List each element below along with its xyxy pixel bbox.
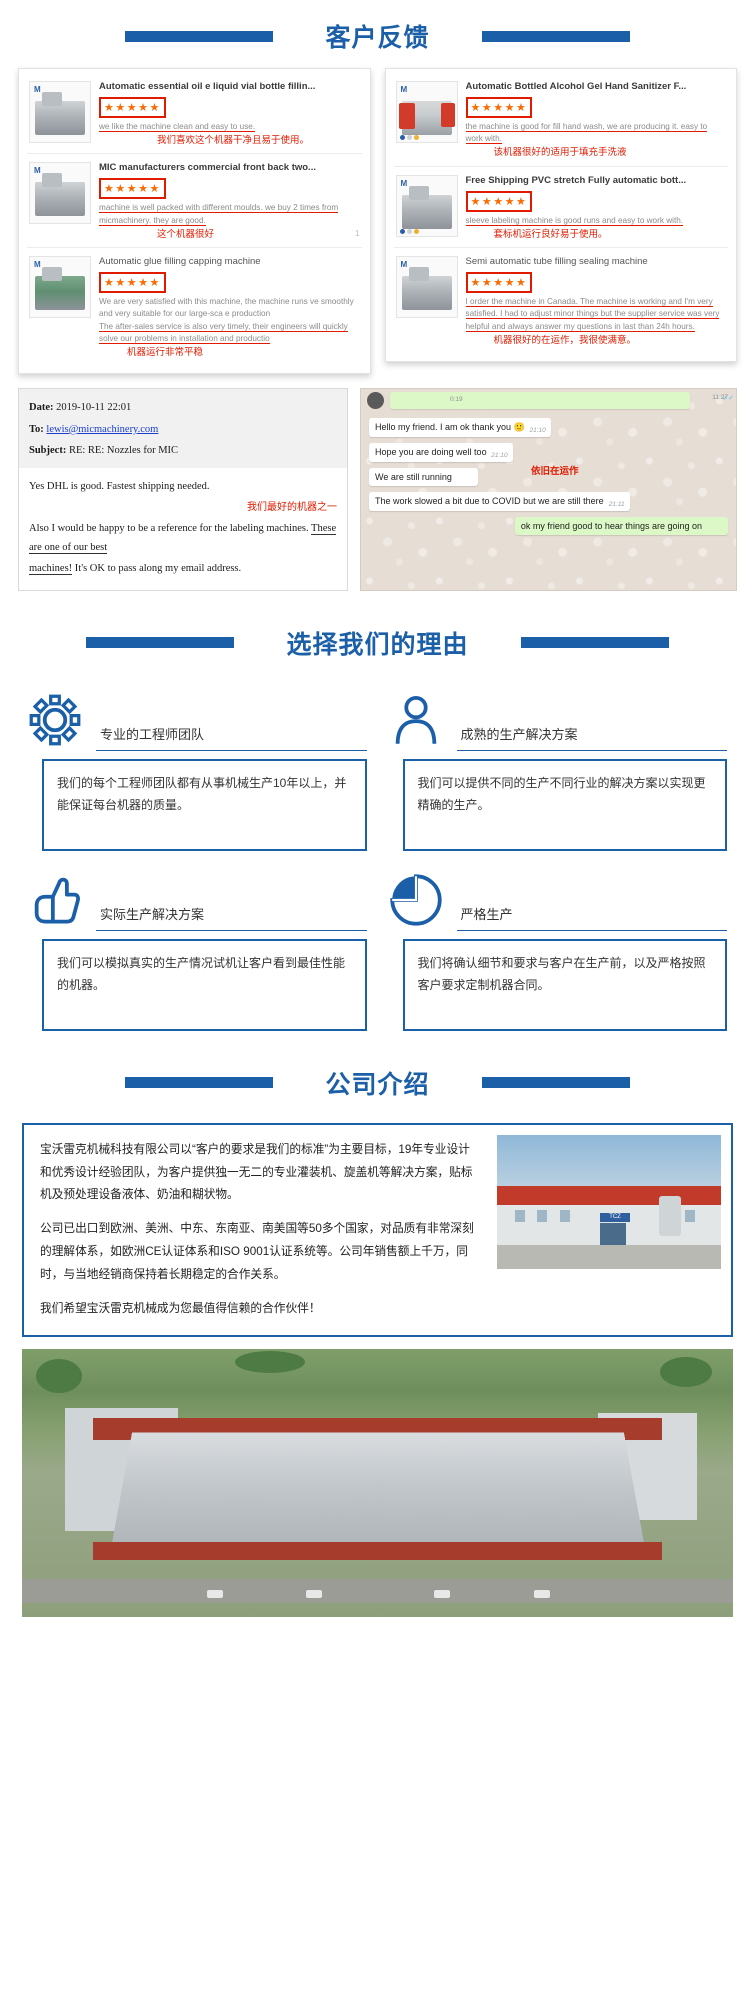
star-rating: ★★★★★ xyxy=(99,178,166,199)
email-to-label: To: xyxy=(29,424,44,435)
email-body-line-3: machines! It's OK to pass along my email… xyxy=(29,558,337,579)
review-card[interactable]: M MIC manufacturers commercial front bac… xyxy=(27,154,362,248)
star-rating: ★★★★★ xyxy=(466,97,533,118)
stars-glyph: ★★★★★ xyxy=(104,102,161,114)
why-heading: 实际生产解决方案 xyxy=(96,904,367,931)
product-detail-page: 客户反馈 M Automatic essential oil e liquid … xyxy=(0,0,755,1617)
review-text-cn: 我们喜欢这个机器干净且易于使用。 xyxy=(99,134,360,147)
company-paragraph: 我们希望宝沃雷克机械成为您最值得信赖的合作伙伴！ xyxy=(40,1298,481,1321)
review-text-cn: 套标机运行良好易于使用。 xyxy=(466,228,727,241)
review-card[interactable]: M Automatic Bottled Alcohol Gel Hand San… xyxy=(394,73,729,167)
header-bar-left xyxy=(125,31,273,42)
gear-icon xyxy=(28,693,82,747)
email-body-line-1: Yes DHL is good. Fastest shipping needed… xyxy=(29,476,337,497)
page-title-company: 公司介绍 xyxy=(325,1065,429,1101)
review-text-en: I order the machine in Canada. The machi… xyxy=(466,296,727,333)
why-heading: 专业的工程师团队 xyxy=(96,724,367,751)
page-title-why: 选择我们的理由 xyxy=(286,625,468,661)
labeling-machine-thumb: M xyxy=(29,162,91,224)
why-cell-engineers: 专业的工程师团队 我们的每个工程师团队都有从事机械生产10年以上，并能保证每台机… xyxy=(28,689,367,851)
company-paragraph: 公司已出口到欧洲、美洲、中东、东南亚、南美国等50多个国家，对品质有非常深刻的理… xyxy=(40,1218,481,1286)
review-card[interactable]: M Automatic glue filling capping machine… xyxy=(27,248,362,365)
why-body: 我们可以模拟真实的生产情况试机让客户看到最佳性能的机器。 xyxy=(42,939,367,1031)
review-card[interactable]: M Semi automatic tube filling sealing ma… xyxy=(394,248,729,353)
review-text-en: the machine is good for fill hand wash, … xyxy=(466,121,727,146)
review-title[interactable]: Automatic essential oil e liquid vial bo… xyxy=(99,81,360,94)
voice-duration: 0:19 xyxy=(450,396,463,403)
chat-bubble[interactable]: Hope you are doing well too21:10 xyxy=(369,443,513,462)
review-title[interactable]: Free Shipping PVC stretch Fully automati… xyxy=(466,175,727,188)
review-title[interactable]: MIC manufacturers commercial front back … xyxy=(99,162,360,175)
chat-row: ok my friend good to hear things are goi… xyxy=(369,516,728,541)
voice-message-bubble[interactable]: 0:19 xyxy=(390,392,690,409)
review-text-cn: 机器很好的在运作，我很使满意。 xyxy=(466,334,727,347)
brand-logo-icon: M xyxy=(401,260,407,269)
chat-annotation-cn: 依旧在运作 xyxy=(531,463,579,477)
color-swatches-icon xyxy=(400,229,419,234)
chat-bubble[interactable]: Hello my friend. I am ok thank you 🙂21:1… xyxy=(369,418,551,437)
header-bar-right xyxy=(482,31,630,42)
email-subject-value: RE: RE: Nozzles for MIC xyxy=(69,445,178,456)
review-title[interactable]: Automatic Bottled Alcohol Gel Hand Sanit… xyxy=(466,81,727,94)
reviews-column-right: M Automatic Bottled Alcohol Gel Hand San… xyxy=(385,68,738,362)
email-subject-row: Subject: RE: RE: Nozzles for MIC xyxy=(29,440,337,461)
stars-glyph: ★★★★★ xyxy=(104,277,161,289)
email-body-line-2: Also I would be happy to be a reference … xyxy=(29,518,337,559)
why-cell-solutions: 成熟的生产解决方案 我们可以提供不同的生产不同行业的解决方案以实现更精确的生产。 xyxy=(389,689,728,851)
reviews-column-left: M Automatic essential oil e liquid vial … xyxy=(18,68,371,374)
section-header-feedback: 客户反馈 xyxy=(0,0,755,68)
review-text-en: we like the machine clean and easy to us… xyxy=(99,121,360,133)
review-text-cn: 这个机器很好 1 xyxy=(99,228,360,241)
email-body: Yes DHL is good. Fastest shipping needed… xyxy=(19,468,347,590)
company-text: 宝沃雷克机械科技有限公司以“客户的要求是我们的标准”为主要目标，19年专业设计和… xyxy=(24,1125,497,1335)
chat-row: The work slowed a bit due to COVID but w… xyxy=(369,491,728,516)
section-header-why: 选择我们的理由 xyxy=(0,591,755,675)
sleeve-labeling-machine-thumb: M xyxy=(396,175,458,237)
header-bar-right xyxy=(482,1077,630,1088)
review-title[interactable]: Semi automatic tube filling sealing mach… xyxy=(466,256,727,269)
filling-machine-thumb: M xyxy=(29,81,91,143)
factory-aerial-photo xyxy=(22,1349,733,1617)
email-screenshot: Date: 2019-10-11 22:01 To: lewis@micmach… xyxy=(18,388,348,590)
why-body: 我们将确认细节和要求与客户在生产前，以及严格按照客户要求定制机器合同。 xyxy=(403,939,728,1031)
pie-chart-icon xyxy=(389,873,443,927)
glue-filling-machine-thumb: M xyxy=(29,256,91,318)
review-count: 1 xyxy=(355,228,359,239)
person-icon xyxy=(389,693,443,747)
proof-container: Date: 2019-10-11 22:01 To: lewis@micmach… xyxy=(0,374,755,590)
review-text-en: We are very satisfied with this machine,… xyxy=(99,296,360,321)
read-receipt-icon: ✓✓ xyxy=(722,394,734,402)
why-cell-real-production: 实际生产解决方案 我们可以模拟真实的生产情况试机让客户看到最佳性能的机器。 xyxy=(28,869,367,1031)
chat-top-row: 0:19 11:27 ✓✓ xyxy=(361,389,736,411)
chat-messages: Hello my friend. I am ok thank you 🙂21:1… xyxy=(361,411,736,546)
email-date-row: Date: 2019-10-11 22:01 xyxy=(29,397,337,418)
tube-filling-machine-thumb: M xyxy=(396,256,458,318)
chat-time: 21:10 xyxy=(491,451,507,460)
email-to-row: To: lewis@micmachinery.com xyxy=(29,419,337,440)
brand-logo-icon: M xyxy=(34,166,40,175)
reviews-container: M Automatic essential oil e liquid vial … xyxy=(0,68,755,374)
factory-building-photo: TCZ xyxy=(497,1135,721,1269)
review-text-cn: 该机器很好的适用于填充手洗液 xyxy=(466,146,727,159)
review-text-en-2: The after-sales service is also very tim… xyxy=(99,321,360,346)
email-to-link[interactable]: lewis@micmachinery.com xyxy=(46,424,158,435)
stars-glyph: ★★★★★ xyxy=(471,102,528,114)
page-title-feedback: 客户反馈 xyxy=(325,18,429,54)
review-text-en: sleeve labeling machine is good runs and… xyxy=(466,215,727,227)
avatar xyxy=(367,392,384,409)
stars-glyph: ★★★★★ xyxy=(471,277,528,289)
company-paragraph: 宝沃雷克机械科技有限公司以“客户的要求是我们的标准”为主要目标，19年专业设计和… xyxy=(40,1139,481,1207)
why-body: 我们可以提供不同的生产不同行业的解决方案以实现更精确的生产。 xyxy=(403,759,728,851)
brand-logo-icon: M xyxy=(34,260,40,269)
email-date-value: 2019-10-11 22:01 xyxy=(56,402,131,413)
header-bar-left xyxy=(86,637,234,648)
review-title[interactable]: Automatic glue filling capping machine xyxy=(99,256,360,269)
review-text-cn: 机器运行非常平稳 xyxy=(99,346,360,359)
why-heading: 严格生产 xyxy=(457,904,728,931)
section-header-company: 公司介绍 xyxy=(0,1041,755,1115)
star-rating: ★★★★★ xyxy=(99,272,166,293)
chat-row: Hello my friend. I am ok thank you 🙂21:1… xyxy=(369,417,728,442)
whatsapp-screenshot: 0:19 11:27 ✓✓ Hello my friend. I am ok t… xyxy=(360,388,737,590)
chat-bubble-outgoing[interactable]: ok my friend good to hear things are goi… xyxy=(515,517,728,536)
header-bar-left xyxy=(125,1077,273,1088)
company-intro-box: 宝沃雷克机械科技有限公司以“客户的要求是我们的标准”为主要目标，19年专业设计和… xyxy=(22,1123,733,1337)
review-text-en: machine is well packed with different mo… xyxy=(99,202,360,227)
email-subject-label: Subject: xyxy=(29,445,66,456)
chat-time: 21:10 xyxy=(529,426,545,435)
brand-logo-icon: M xyxy=(34,85,40,94)
review-card[interactable]: M Automatic essential oil e liquid vial … xyxy=(27,73,362,154)
chat-bubble[interactable]: The work slowed a bit due to COVID but w… xyxy=(369,492,630,511)
star-rating: ★★★★★ xyxy=(466,191,533,212)
factory-sign: TCZ xyxy=(600,1213,630,1222)
header-bar-right xyxy=(521,637,669,648)
review-card[interactable]: M Free Shipping PVC stretch Fully automa… xyxy=(394,167,729,248)
chat-time: 21:11 xyxy=(609,500,625,509)
why-cell-strict-production: 严格生产 我们将确认细节和要求与客户在生产前，以及严格按照客户要求定制机器合同。 xyxy=(389,869,728,1031)
why-body: 我们的每个工程师团队都有从事机械生产10年以上，并能保证每台机器的质量。 xyxy=(42,759,367,851)
color-swatches-icon xyxy=(400,135,419,140)
stars-glyph: ★★★★★ xyxy=(471,196,528,208)
star-rating: ★★★★★ xyxy=(466,272,533,293)
stars-glyph: ★★★★★ xyxy=(104,183,161,195)
email-date-label: Date: xyxy=(29,402,54,413)
star-rating: ★★★★★ xyxy=(99,97,166,118)
chat-bubble[interactable]: We are still running xyxy=(369,468,478,487)
brand-logo-icon: M xyxy=(401,85,407,94)
brand-logo-icon: M xyxy=(401,179,407,188)
thumbs-up-icon xyxy=(28,873,82,927)
why-heading: 成熟的生产解决方案 xyxy=(457,724,728,751)
sanitizer-filling-machine-thumb: M xyxy=(396,81,458,143)
why-choose-us-grid: 专业的工程师团队 我们的每个工程师团队都有从事机械生产10年以上，并能保证每台机… xyxy=(0,675,755,1041)
email-body-cn: 我们最好的机器之一 xyxy=(29,499,337,518)
